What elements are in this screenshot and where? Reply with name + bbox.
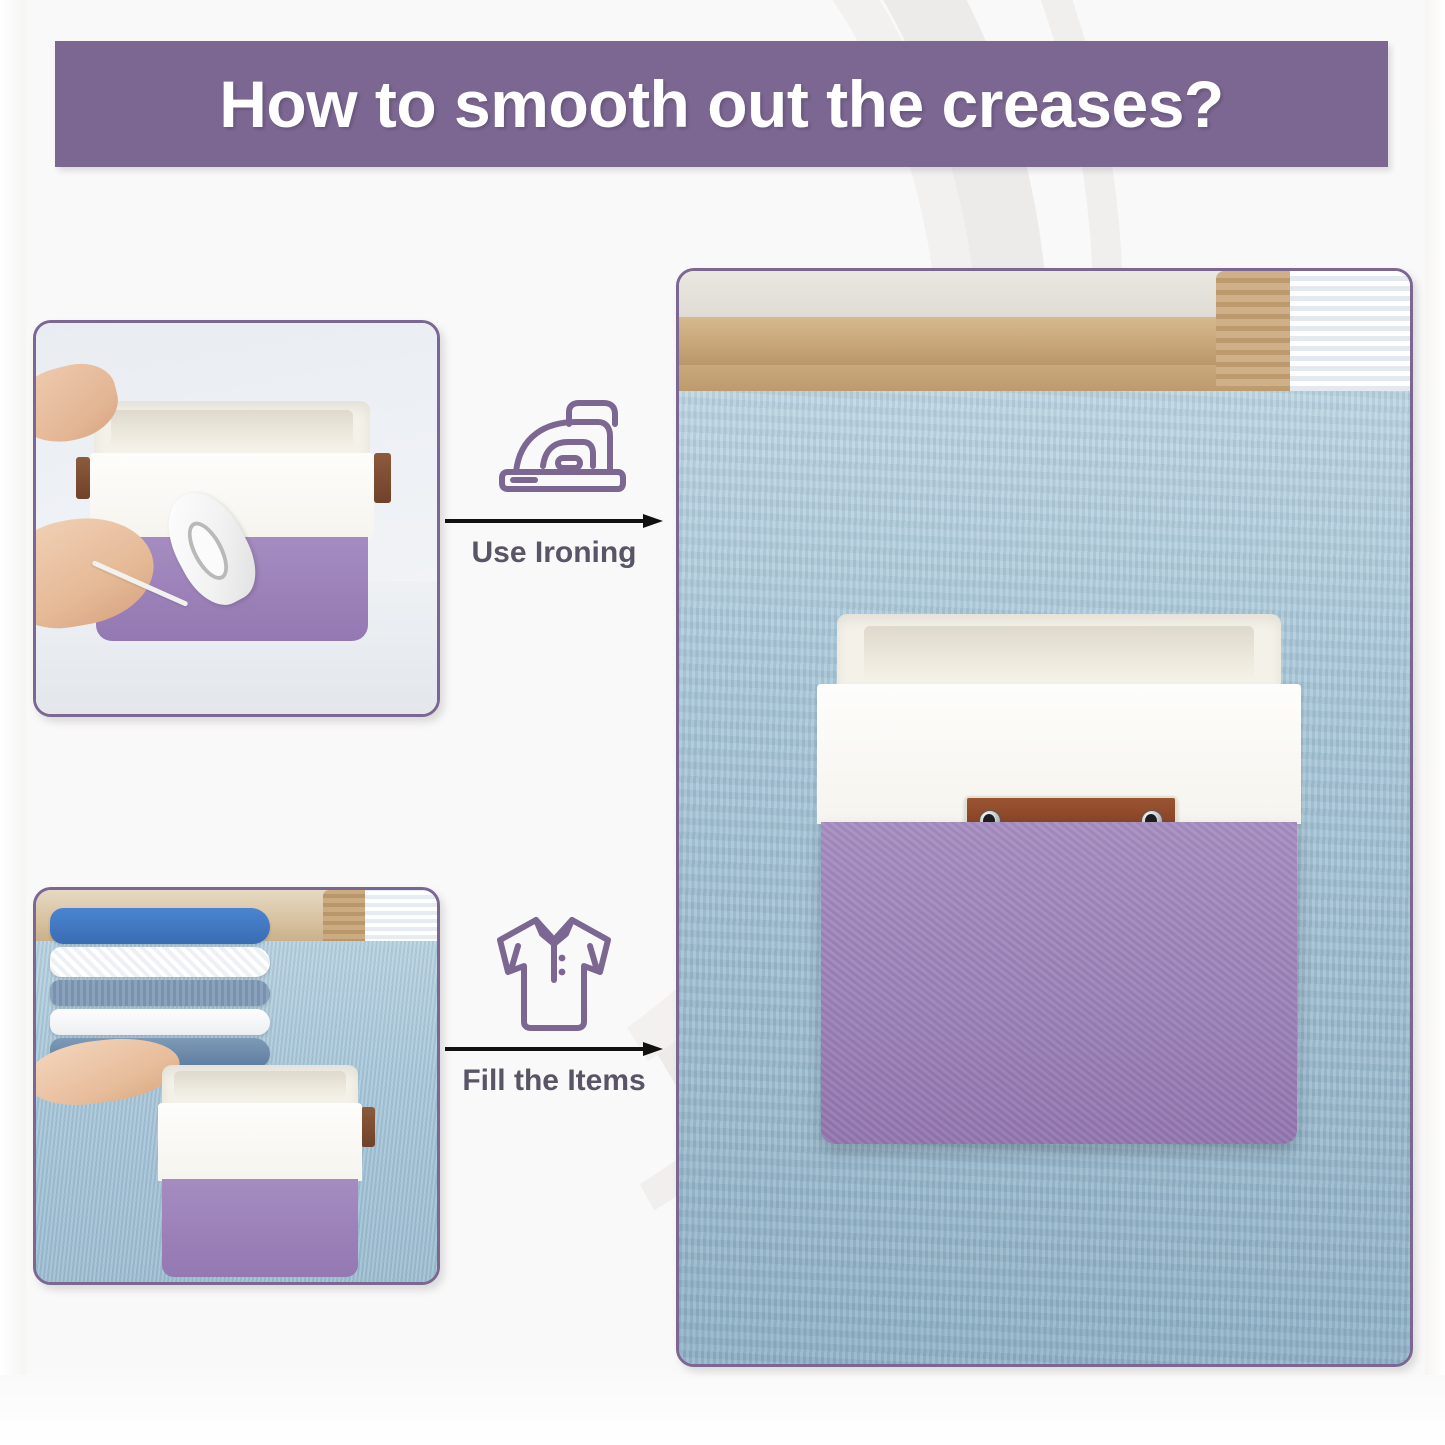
arrow-head bbox=[643, 1042, 663, 1056]
arrow-head bbox=[643, 514, 663, 528]
background-left-edge bbox=[0, 0, 26, 1445]
leather-handle-right bbox=[361, 1107, 375, 1147]
folded-cloth-white bbox=[50, 1009, 270, 1035]
arrow-right-icon bbox=[445, 1042, 663, 1056]
background-bottom-fade bbox=[0, 1375, 1445, 1445]
step-fill-the-items: Fill the Items bbox=[442, 910, 666, 1098]
storage-basket-product bbox=[809, 614, 1309, 1144]
leather-handle-right bbox=[374, 453, 391, 503]
step-label-fill-the-items: Fill the Items bbox=[442, 1064, 666, 1098]
leather-handle-left bbox=[76, 457, 90, 499]
filling-photo-panel bbox=[33, 887, 440, 1285]
basket-in-filling-photo bbox=[152, 1065, 368, 1277]
basket-purple-section bbox=[821, 822, 1297, 1144]
folded-cloth-white-textured bbox=[50, 947, 270, 977]
basket-white-section bbox=[158, 1103, 362, 1181]
arrow-shaft bbox=[445, 1047, 645, 1051]
header-banner: How to smooth out the creases? bbox=[55, 41, 1388, 167]
finished-basket-photo-panel bbox=[676, 268, 1413, 1367]
polo-shirt-icon bbox=[480, 910, 628, 1036]
folded-cloth-blue bbox=[50, 908, 270, 944]
page-title: How to smooth out the creases? bbox=[219, 66, 1223, 142]
steaming-photo-panel bbox=[33, 320, 440, 717]
step-label-use-ironing: Use Ironing bbox=[442, 536, 666, 570]
shirt-button-bottom bbox=[559, 969, 566, 976]
room-scene bbox=[679, 271, 1410, 1364]
folded-cloth-steel-blue bbox=[50, 980, 270, 1006]
filling-scene bbox=[36, 890, 437, 1282]
basket-purple-section bbox=[162, 1179, 358, 1277]
step-use-ironing: Use Ironing bbox=[442, 398, 666, 570]
basket-white-section bbox=[817, 684, 1301, 824]
background-right-edge bbox=[1425, 0, 1445, 1445]
steamer-soleplate bbox=[180, 515, 237, 586]
steaming-scene bbox=[36, 323, 437, 714]
iron-icon bbox=[480, 398, 628, 508]
arrow-shaft bbox=[445, 519, 645, 523]
arrow-right-icon bbox=[445, 514, 663, 528]
shirt-button-top bbox=[559, 955, 566, 962]
